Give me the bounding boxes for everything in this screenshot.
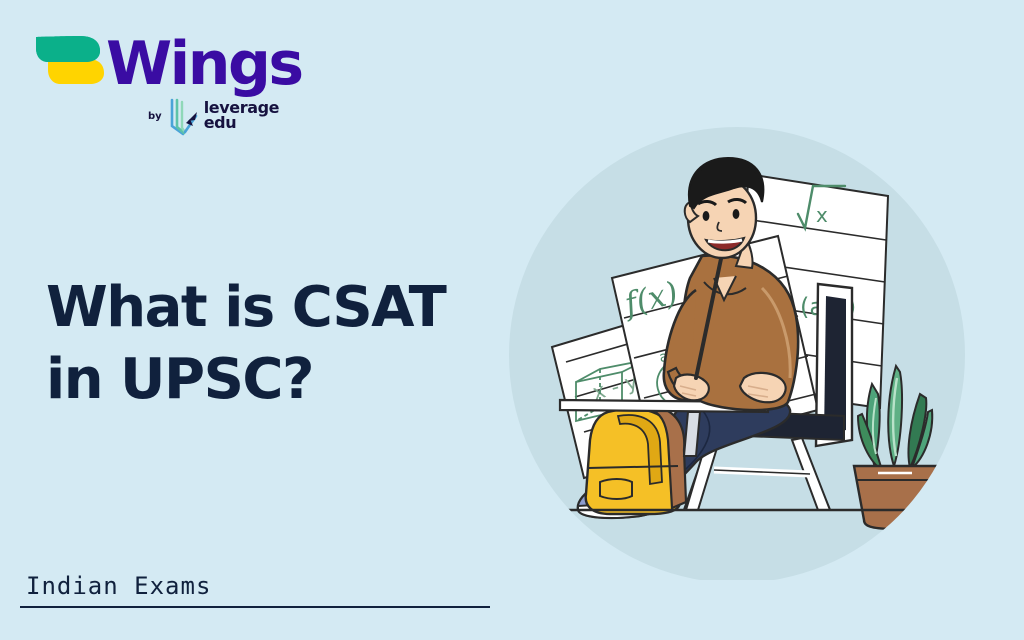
page-title-line1: What is CSAT: [46, 272, 526, 344]
paper-right-root-x: x: [816, 203, 828, 227]
eye-left: [703, 211, 710, 221]
brand-logo[interactable]: Wings by leverage edu: [28, 28, 278, 148]
category-label: Indian Exams: [20, 572, 490, 606]
banner-canvas: Wings by leverage edu What is CSAT in UP…: [0, 0, 1024, 640]
logo-parent-name: leverage edu: [204, 101, 279, 130]
logo-by-label: by: [148, 111, 162, 122]
logo-parent-lockup: by leverage edu: [148, 96, 279, 136]
page-title-line2: in UPSC?: [46, 344, 526, 416]
logo-parent-line2: edu: [204, 116, 279, 131]
eye-right: [733, 209, 740, 219]
page-title: What is CSAT in UPSC?: [46, 272, 526, 415]
category-footer: Indian Exams: [20, 572, 490, 608]
footer-divider: [20, 606, 490, 608]
logo-wordmark: Wings: [106, 34, 302, 94]
yellow-backpack: [586, 406, 686, 514]
student-studying-math-illustration: x - y: [500, 110, 1000, 580]
leverage-edu-book-icon: [166, 96, 200, 136]
